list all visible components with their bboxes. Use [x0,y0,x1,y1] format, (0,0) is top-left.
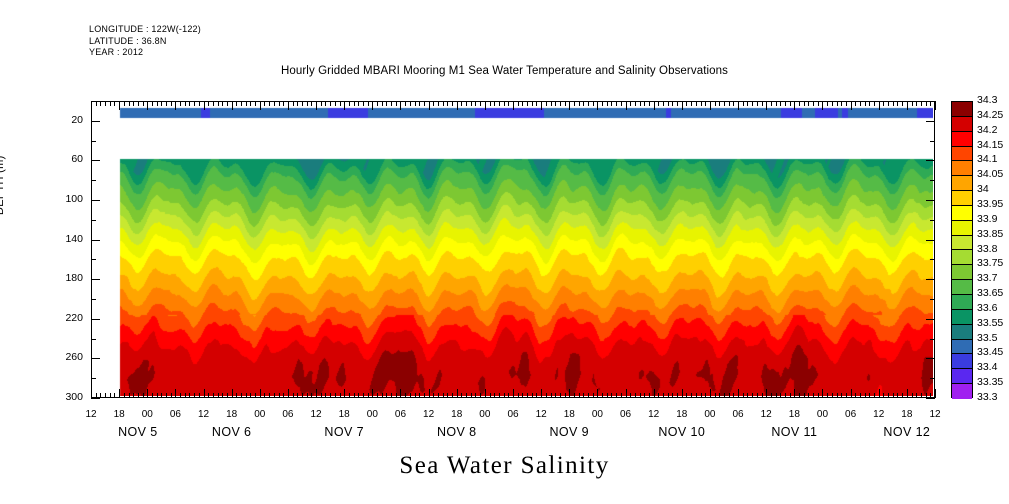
colorbar-band [952,369,972,384]
colorbar-band [952,354,972,369]
colorbar-tick-label: 33.4 [977,361,997,373]
depth-tick-label: 100 [39,193,83,205]
hour-tick-label: 12 [915,409,955,420]
depth-tick-label: 140 [39,233,83,245]
colorbar-band [952,161,972,176]
day-tick-label: NOV 10 [622,425,742,439]
depth-tick-label: 300 [39,391,83,403]
depth-tick-label: 220 [39,312,83,324]
depth-tick-label: 60 [39,153,83,165]
colorbar-tick-label: 33.8 [977,243,997,255]
colorbar-tick-label: 33.45 [977,346,1003,358]
colorbar-tick-label: 33.75 [977,257,1003,269]
colorbar-band [952,102,972,117]
colorbar [951,101,973,398]
colorbar-tick-label: 34.1 [977,153,997,165]
colorbar-tick-label: 34.15 [977,139,1003,151]
day-tick-label: NOV 12 [847,425,967,439]
day-tick-label: NOV 7 [284,425,404,439]
colorbar-band [952,250,972,265]
colorbar-tick-label: 34.05 [977,168,1003,180]
colorbar-tick-label: 33.6 [977,302,997,314]
colorbar-tick-label: 33.55 [977,317,1003,329]
depth-tick-label: 260 [39,351,83,363]
colorbar-band [952,265,972,280]
variable-title: Sea Water Salinity [0,452,1009,480]
depth-tick-label: 180 [39,272,83,284]
colorbar-band [952,280,972,295]
colorbar-tick-label: 33.9 [977,213,997,225]
metadata-block: LONGITUDE : 122W(-122) LATITUDE : 36.8N … [89,24,201,59]
salinity-field [92,102,933,396]
colorbar-tick-label: 34.2 [977,124,997,136]
colorbar-tick-label: 33.5 [977,332,997,344]
colorbar-band [952,191,972,206]
colorbar-band [952,384,972,399]
colorbar-tick-label: 33.35 [977,376,1003,388]
y-axis-title: DEPTH (m) [0,155,6,215]
colorbar-tick-label: 33.85 [977,228,1003,240]
longitude-label: LONGITUDE : 122W(-122) [89,24,201,36]
colorbar-band [952,147,972,162]
day-tick-label: NOV 6 [172,425,292,439]
colorbar-band [952,236,972,251]
colorbar-band [952,221,972,236]
colorbar-band [952,310,972,325]
latitude-label: LATITUDE : 36.8N [89,36,201,48]
colorbar-band [952,132,972,147]
colorbar-tick-label: 34.25 [977,109,1003,121]
colorbar-band [952,117,972,132]
colorbar-band [952,206,972,221]
day-tick-label: NOV 8 [397,425,517,439]
day-tick-label: NOV 9 [509,425,629,439]
colorbar-tick-label: 33.65 [977,287,1003,299]
colorbar-band [952,325,972,340]
colorbar-tick-label: 34.3 [977,94,997,106]
day-tick-label: NOV 11 [734,425,854,439]
colorbar-tick-label: 33.95 [977,198,1003,210]
colorbar-tick-label: 33.3 [977,391,997,403]
year-label: YEAR : 2012 [89,47,201,59]
chart-title: Hourly Gridded MBARI Mooring M1 Sea Wate… [0,65,1009,77]
colorbar-band [952,176,972,191]
colorbar-band [952,295,972,310]
colorbar-tick-label: 33.7 [977,272,997,284]
contour-plot-area [91,101,935,398]
colorbar-tick-label: 34 [977,183,989,195]
depth-tick-label: 20 [39,114,83,126]
colorbar-band [952,340,972,355]
